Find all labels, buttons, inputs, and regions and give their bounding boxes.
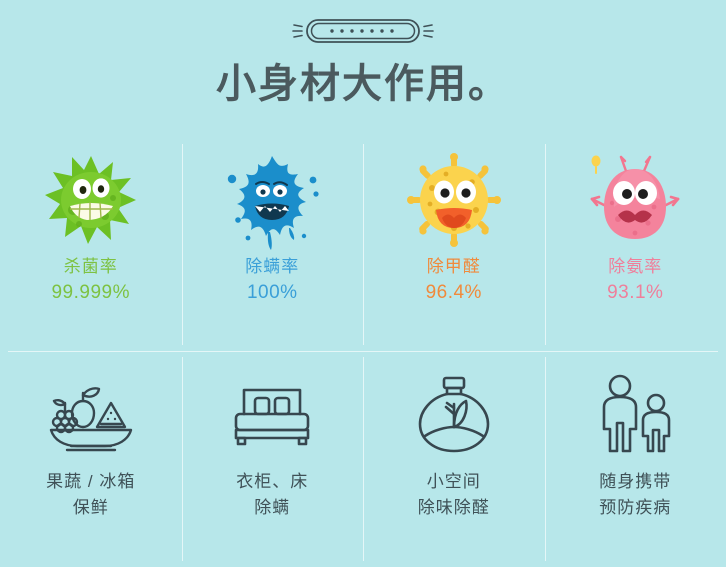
green-spiky-germ-icon <box>39 148 143 252</box>
use-cell-portable-health: 随身携带 预防疾病 <box>545 351 726 567</box>
use-cell-wardrobe-bed: 衣柜、床 除螨 <box>182 351 364 567</box>
adult-and-child-icon <box>592 373 678 455</box>
stat-cell-formaldehyde-removal: 除甲醛 96.4% <box>363 138 545 351</box>
stat-label: 除氨率 <box>608 256 662 277</box>
use-caption-line2: 保鲜 <box>46 495 135 521</box>
stat-cell-mite-removal: 除螨率 100% <box>182 138 364 351</box>
yellow-round-germ-icon <box>402 148 506 252</box>
stats-row: 杀菌率 99.999% <box>0 138 726 351</box>
stat-label: 杀菌率 <box>64 256 118 277</box>
stat-cell-sterilization: 杀菌率 99.999% <box>0 138 182 351</box>
germ-icon-wrap <box>402 138 506 256</box>
use-caption: 衣柜、床 除螨 <box>236 469 308 520</box>
use-cell-small-space: 小空间 除味除醛 <box>363 351 545 567</box>
stat-label: 除螨率 <box>245 256 299 277</box>
use-caption-line1: 随身携带 <box>599 469 671 495</box>
germ-icon-wrap <box>39 138 143 256</box>
stat-label: 除甲醛 <box>427 256 481 277</box>
page-title: 小身材大作用。 <box>0 64 726 104</box>
use-caption: 小空间 除味除醛 <box>418 469 490 520</box>
use-caption-line1: 小空间 <box>418 469 490 495</box>
use-icon-wrap <box>228 351 316 463</box>
use-cell-fruit-fridge: 果蔬 / 冰箱 保鲜 <box>0 351 182 567</box>
uses-row: 果蔬 / 冰箱 保鲜 <box>0 351 726 567</box>
stat-value: 100% <box>247 281 298 306</box>
stat-value: 93.1% <box>607 281 663 306</box>
use-icon-wrap <box>416 351 492 463</box>
use-caption: 随身携带 预防疾病 <box>599 469 671 520</box>
fruit-bowl-icon <box>45 375 137 453</box>
stat-value: 96.4% <box>426 281 482 306</box>
pink-blob-germ-icon <box>580 145 690 255</box>
use-caption-line1: 果蔬 / 冰箱 <box>46 469 135 495</box>
use-caption: 果蔬 / 冰箱 保鲜 <box>46 469 135 520</box>
use-caption-line1: 衣柜、床 <box>236 469 308 495</box>
terrarium-plant-icon <box>416 374 492 454</box>
bed-icon <box>228 380 316 448</box>
content-grid: 杀菌率 99.999% <box>0 138 726 567</box>
use-caption-line2: 预防疾病 <box>599 495 671 521</box>
use-icon-wrap <box>45 351 137 463</box>
stat-cell-ammonia-removal: 除氨率 93.1% <box>545 138 726 351</box>
blue-splat-mite-icon <box>218 146 326 254</box>
use-caption-line2: 除味除醛 <box>418 495 490 521</box>
use-icon-wrap <box>592 351 678 463</box>
poster-root: 小身材大作用。 <box>0 0 726 567</box>
germ-icon-wrap <box>580 138 690 256</box>
stat-value: 99.999% <box>51 281 130 306</box>
air-purifier-device-icon <box>290 14 436 48</box>
header: 小身材大作用。 <box>0 0 726 104</box>
use-caption-line2: 除螨 <box>236 495 308 521</box>
germ-icon-wrap <box>218 138 326 256</box>
spore-dot <box>592 156 601 174</box>
